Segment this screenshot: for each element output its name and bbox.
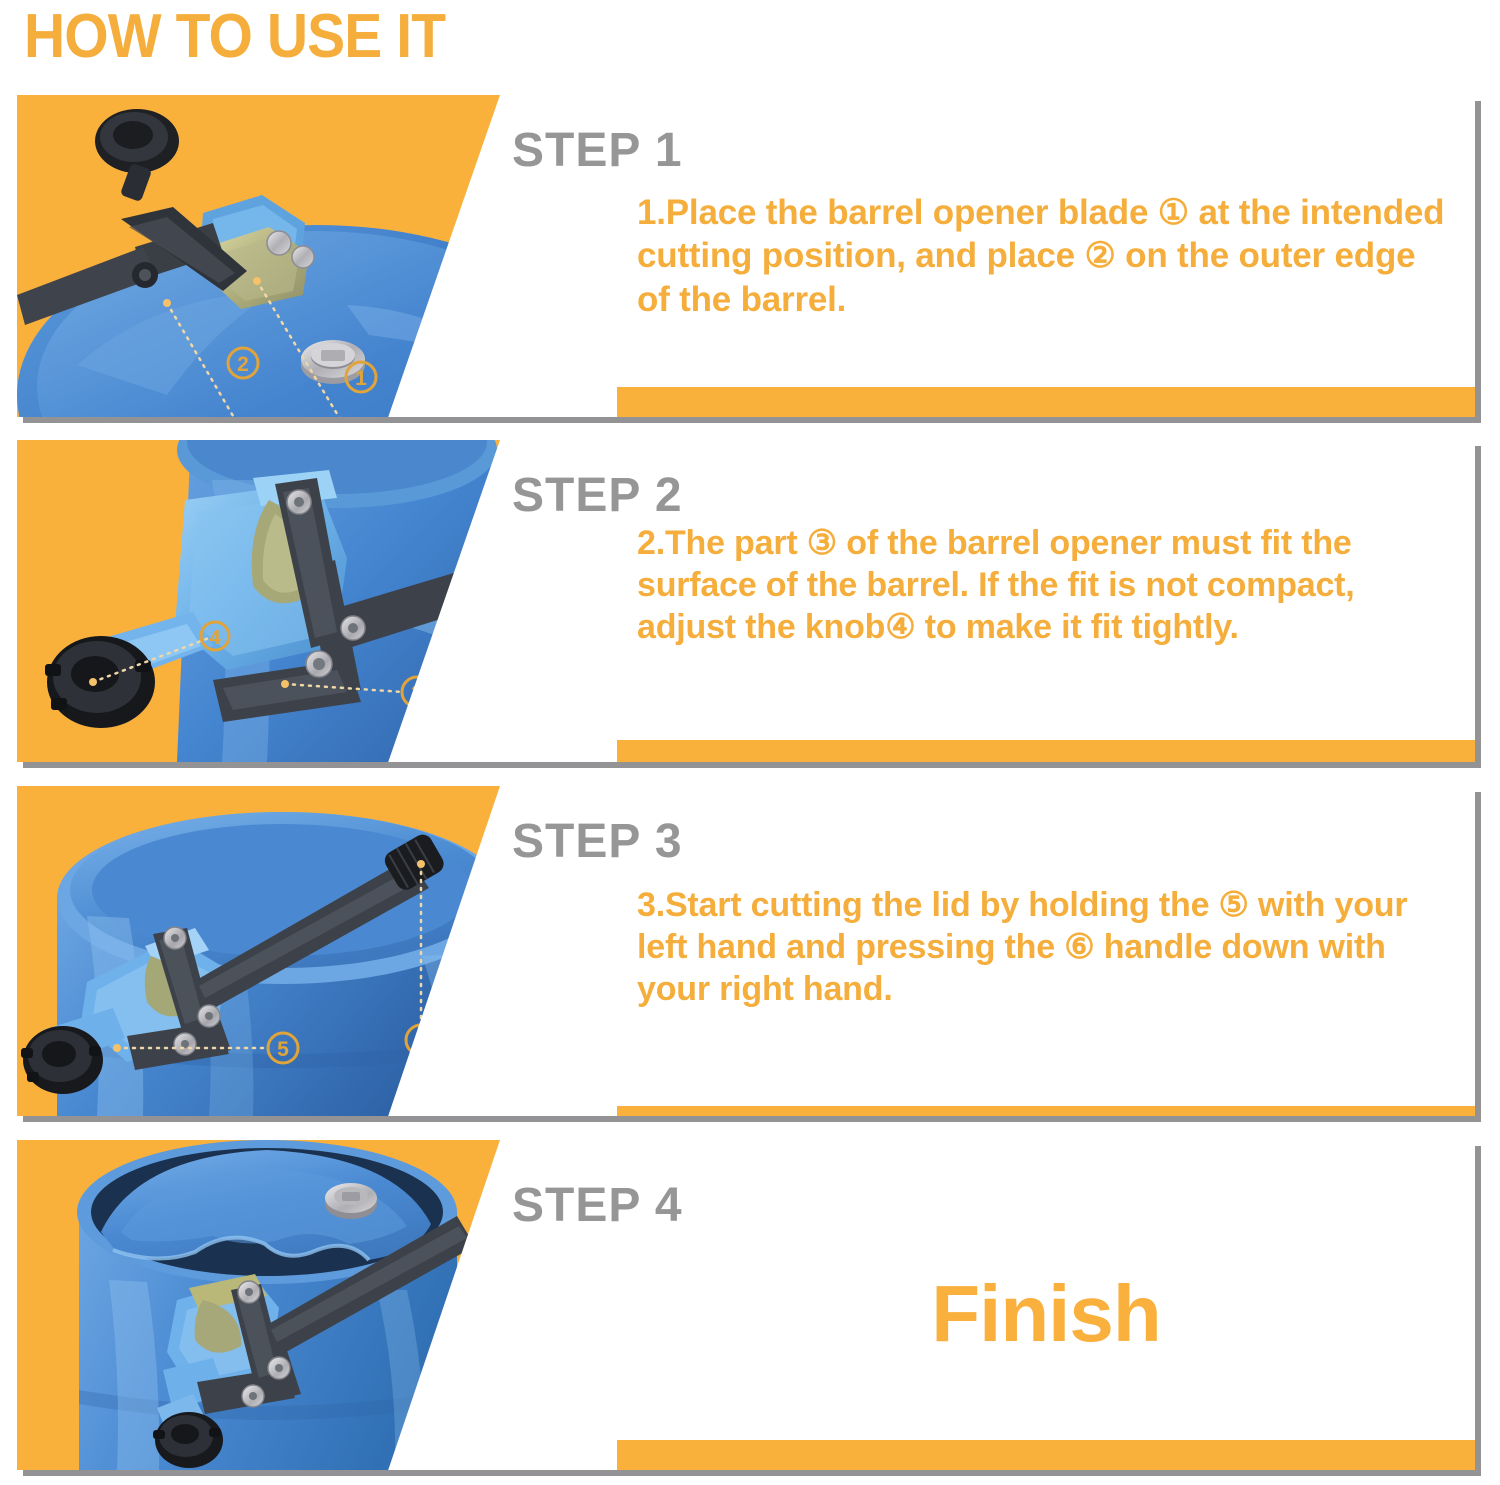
svg-text:2: 2 bbox=[237, 353, 249, 376]
svg-text:4: 4 bbox=[209, 627, 221, 649]
orange-bottom-strip bbox=[617, 740, 1475, 762]
svg-text:5: 5 bbox=[277, 1038, 289, 1061]
page-title: HOW TO USE IT bbox=[24, 0, 445, 76]
finish-text: Finish bbox=[617, 1268, 1475, 1360]
step-3-body: 3.Start cutting the lid by holding the ⑤… bbox=[637, 884, 1451, 1010]
svg-text:1: 1 bbox=[355, 367, 367, 390]
step-card-1: 2 1 STEP 1 1.Place the barrel opener bla… bbox=[17, 95, 1475, 417]
step-card-4: STEP 4 Finish bbox=[17, 1140, 1475, 1470]
step-1-body: 1.Place the barrel opener blade ① at the… bbox=[637, 191, 1451, 321]
step-card-2: 4 3 STEP 2 2.The part ③ of the barrel op… bbox=[17, 440, 1475, 762]
step-3-text-panel: STEP 3 3.Start cutting the lid by holdin… bbox=[617, 786, 1475, 1116]
step-4-text-panel: STEP 4 Finish bbox=[617, 1140, 1475, 1470]
step-2-label: STEP 2 bbox=[512, 468, 683, 523]
step-2-text-panel: STEP 2 2.The part ③ of the barrel opener… bbox=[617, 440, 1475, 762]
step-card-3: 5 6 STEP 3 3.Start cutting the lid by ho… bbox=[17, 786, 1475, 1116]
step-4-label: STEP 4 bbox=[512, 1178, 683, 1233]
orange-bottom-strip bbox=[617, 1440, 1475, 1470]
step-1-label: STEP 1 bbox=[512, 123, 683, 178]
step-1-text-panel: STEP 1 1.Place the barrel opener blade ①… bbox=[617, 95, 1475, 417]
step-3-label: STEP 3 bbox=[512, 814, 683, 869]
step-2-body: 2.The part ③ of the barrel opener must f… bbox=[637, 522, 1451, 648]
orange-bottom-strip bbox=[617, 387, 1475, 417]
orange-bottom-strip bbox=[617, 1106, 1475, 1116]
